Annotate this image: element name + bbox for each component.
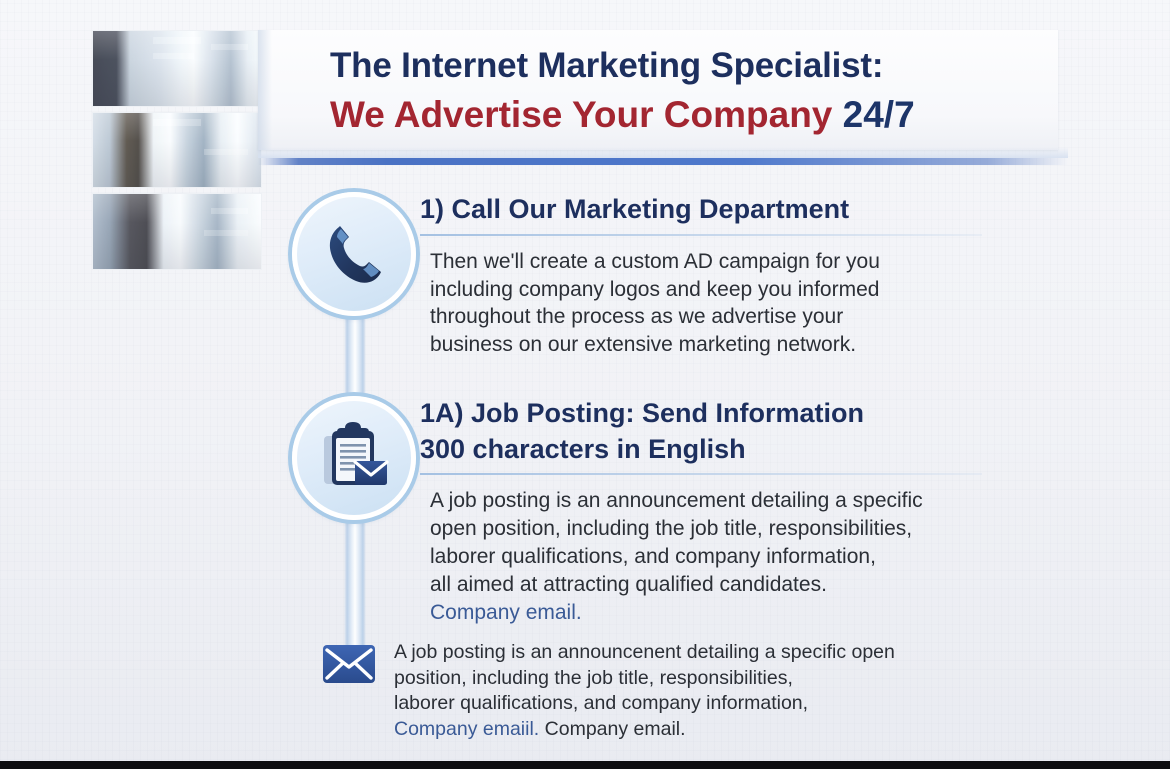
page-title-suffix: 24/7 <box>843 94 915 135</box>
step-1a-heading: 1A) Job Posting: Send Information 300 ch… <box>420 396 980 467</box>
step-1a-heading-line-2: 300 characters in English <box>420 432 980 468</box>
step-1-heading-rule <box>420 234 982 236</box>
slide-canvas: The Internet Marketing Specialist: We Ad… <box>0 0 1170 769</box>
banner-rule-glow <box>258 147 1068 158</box>
paragraph-line: open position, including the job title, … <box>430 515 980 543</box>
footer-last-line: Company emaiil. Company email. <box>394 717 895 743</box>
step-1a-paragraph: A job posting is an announcement detaili… <box>430 487 980 627</box>
step-1-paragraph: Then we'll create a custom AD campaign f… <box>430 248 980 360</box>
clipboard-mail-icon <box>292 396 416 520</box>
paragraph-line: A job posting is an announcement detaili… <box>430 487 980 515</box>
bottom-border-band <box>0 761 1170 769</box>
page-title-highlight: We Advertise Your Company <box>330 94 832 135</box>
collage-photo-3 <box>92 193 262 270</box>
photo-reflection-strip <box>153 119 200 126</box>
footer-line: position, including the job title, respo… <box>394 666 895 692</box>
company-email-link[interactable]: Company email. <box>430 599 980 627</box>
photo-reflection-strip <box>211 208 248 214</box>
company-email-link-footer[interactable]: Company emaiil. <box>394 718 539 740</box>
envelope-icon <box>322 644 376 684</box>
photo-collage <box>92 30 262 270</box>
photo-reflection-strip <box>204 149 248 155</box>
footer-note: A job posting is an announcenent detaili… <box>322 640 962 742</box>
paragraph-line: Then we'll create a custom AD campaign f… <box>430 248 980 276</box>
photo-reflection-strip <box>153 37 200 44</box>
page-title-line-2: We Advertise Your Company 24/7 <box>330 91 1038 138</box>
collage-photo-1 <box>92 30 262 107</box>
step-1-heading: 1) Call Our Marketing Department <box>420 192 980 228</box>
step-1a-heading-line-1: 1A) Job Posting: Send Information <box>420 396 980 432</box>
step-1a-body: 1A) Job Posting: Send Information 300 ch… <box>420 396 980 627</box>
step-1-body: 1) Call Our Marketing Department Then we… <box>420 192 980 359</box>
collage-photo-2 <box>92 112 262 189</box>
phone-handset-icon <box>292 192 416 316</box>
footer-line: laborer qualifications, and company info… <box>394 691 895 717</box>
step-1a-heading-rule <box>420 473 982 475</box>
photo-reflection-strip <box>211 44 248 50</box>
header-banner: The Internet Marketing Specialist: We Ad… <box>258 30 1058 150</box>
banner-glass-edge <box>258 30 272 150</box>
paragraph-line: business on our extensive marketing netw… <box>430 331 980 359</box>
banner-blue-rule <box>258 158 1068 165</box>
footer-line: A job posting is an announcenent detaili… <box>394 640 895 666</box>
footer-text-block: A job posting is an announcenent detaili… <box>394 640 895 742</box>
paragraph-line: including company logos and keep you inf… <box>430 276 980 304</box>
paragraph-line: throughout the process as we advertise y… <box>430 303 980 331</box>
paragraph-line: laborer qualifications, and company info… <box>430 543 980 571</box>
photo-reflection-strip <box>153 53 193 59</box>
footer-trailing-text: Company email. <box>539 718 685 740</box>
photo-reflection-strip <box>204 230 248 236</box>
header-text-block: The Internet Marketing Specialist: We Ad… <box>330 44 1038 138</box>
page-title-line-1: The Internet Marketing Specialist: <box>330 44 1038 89</box>
paragraph-line: all aimed at attracting qualified candid… <box>430 571 980 599</box>
